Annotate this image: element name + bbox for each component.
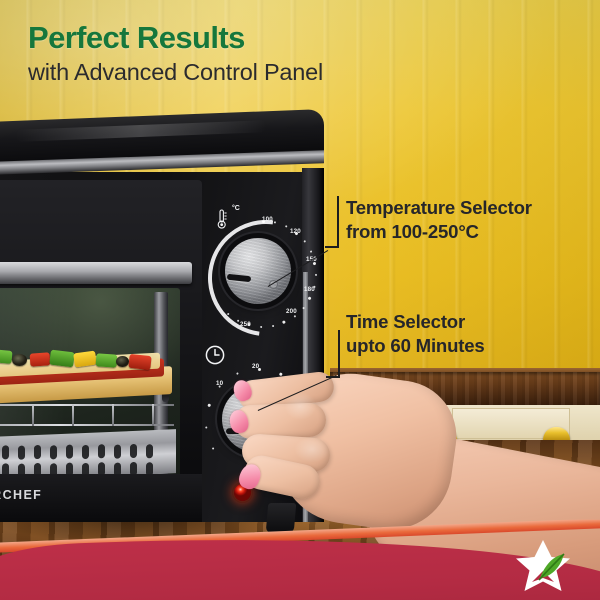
topping-olive [12,354,27,366]
callout-line-2: from 100-250°C [346,220,532,244]
pizza-on-tray [0,350,176,412]
time-tick-label: 10 [216,380,223,387]
temperature-dial[interactable]: 100 120 150 180 200 250 [206,218,318,330]
callout-time-selector: Time Selector upto 60 Minutes [346,310,485,358]
temperature-tick-label: 100 [262,216,273,223]
callout-line-1: Time Selector [346,310,485,334]
temperature-tick-label: 250 [240,321,251,328]
temperature-leader-bracket [337,196,339,248]
callout-temperature-selector: Temperature Selector from 100-250°C [346,196,532,244]
temperature-unit-label: °C [232,205,240,212]
headline-secondary: with Advanced Control Panel [28,59,323,87]
page-title: Perfect Results with Advanced Control Pa… [28,22,323,87]
temperature-knob[interactable] [225,238,291,304]
callout-line-2: upto 60 Minutes [346,334,485,358]
callout-line-1: Temperature Selector [346,196,532,220]
oven-wire-rack [0,404,176,430]
topping-olive [116,356,129,367]
temperature-tick-label: 120 [290,228,301,235]
knuckle-highlight [292,436,342,474]
knuckle-highlight [282,392,328,432]
topping-green-pepper [96,353,118,367]
temperature-tick-label: 200 [286,308,297,315]
oven-door-handle[interactable] [0,262,192,284]
temperature-tick-label: 180 [304,286,315,293]
knob-brushed-texture [225,238,291,304]
wonderchef-star-leaf-logo [512,538,574,596]
topping-red-pepper [30,352,51,366]
topping-green-pepper [49,350,75,368]
promo-image: DERCHEF °C [0,0,600,600]
topping-red-pepper [128,354,151,370]
topping-green-pepper [0,349,13,364]
temperature-leader-tip [325,246,338,248]
headline-primary: Perfect Results [28,22,323,55]
time-leader-bracket [338,330,340,378]
brand-wordmark: DERCHEF [0,488,132,502]
